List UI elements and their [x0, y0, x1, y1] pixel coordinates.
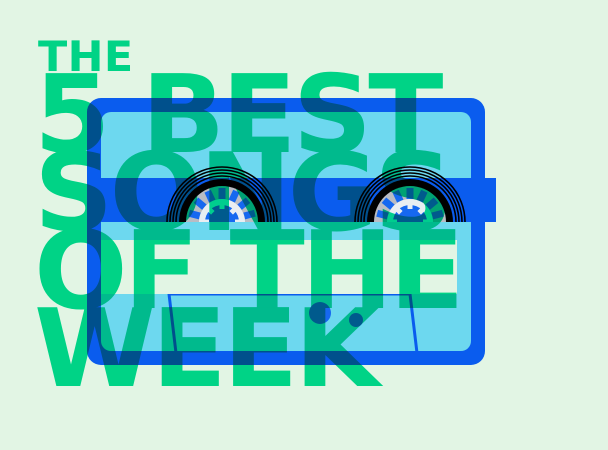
cassette-tape-illustration [87, 98, 485, 365]
right-reel [355, 167, 465, 277]
headline-kicker: THE [38, 36, 134, 78]
poster-canvas: THE 5 BEST SONGS OF THE WEEK [0, 0, 608, 450]
cassette-reels [87, 98, 485, 365]
left-reel [167, 167, 277, 277]
